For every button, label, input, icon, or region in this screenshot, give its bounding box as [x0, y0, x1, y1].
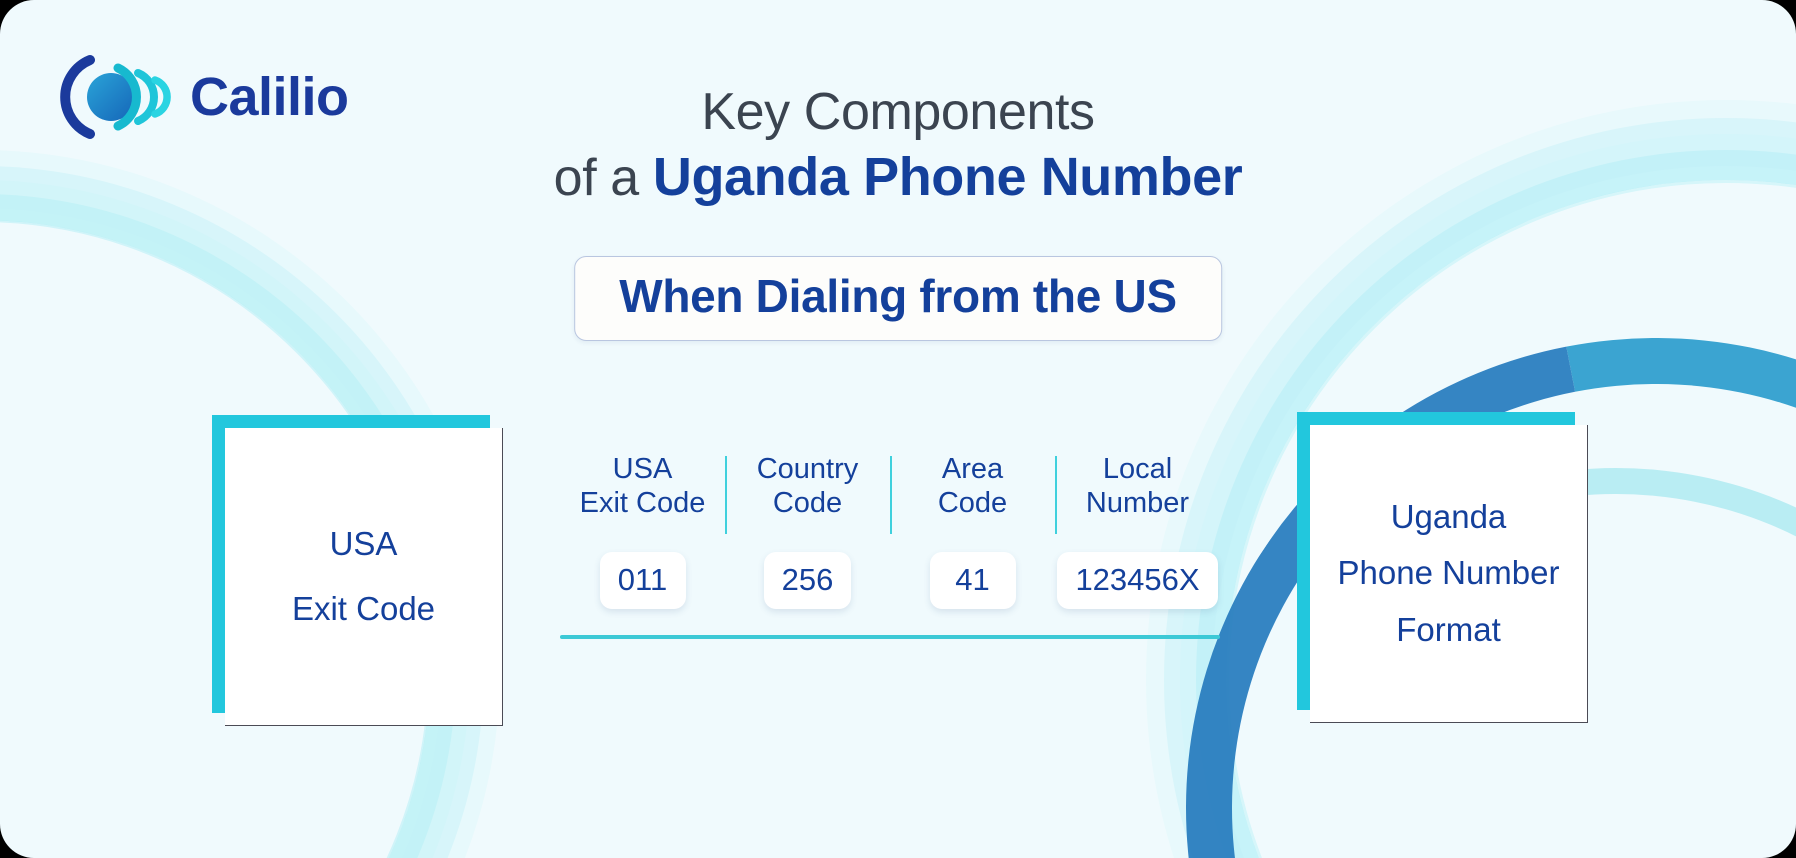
breakdown-value-pill: 256 — [764, 552, 852, 609]
heading-line-2-prefix: of a — [554, 149, 653, 207]
number-breakdown: USA Exit Code 011 Country Code 256 Area … — [560, 452, 1220, 639]
breakdown-column-area-code: Area Code 41 — [890, 452, 1055, 609]
heading-line-2-strong: Uganda Phone Number — [653, 147, 1242, 207]
breakdown-underline — [560, 635, 1220, 639]
breakdown-label-line-2: Exit Code — [580, 487, 706, 519]
breakdown-label-line-1: Country — [757, 453, 859, 485]
subtitle-text: When Dialing from the US — [619, 271, 1177, 322]
breakdown-value-pill: 011 — [600, 552, 686, 609]
breakdown-value-pill: 41 — [930, 552, 1016, 609]
breakdown-label-line-2: Number — [1086, 487, 1189, 519]
breakdown-column-local-number: Local Number 123456X — [1055, 452, 1220, 609]
breakdown-label: Country Code — [749, 452, 867, 520]
breakdown-label: USA Exit Code — [572, 452, 714, 520]
uganda-format-card-accent-border — [1297, 412, 1575, 710]
number-breakdown-columns: USA Exit Code 011 Country Code 256 Area … — [560, 452, 1220, 609]
breakdown-label: Local Number — [1078, 452, 1197, 520]
infographic-canvas: Calilio Key Components of a Uganda Phone… — [0, 0, 1796, 858]
breakdown-label-line-1: Local — [1103, 453, 1172, 485]
breakdown-column-country-code: Country Code 256 — [725, 452, 890, 609]
breakdown-column-usa-exit-code: USA Exit Code 011 — [560, 452, 725, 609]
breakdown-label: Area Code — [930, 452, 1015, 520]
page-heading: Key Components of a Uganda Phone Number — [0, 82, 1796, 213]
breakdown-label-line-1: Area — [942, 453, 1003, 485]
breakdown-label-line-2: Code — [773, 487, 842, 519]
breakdown-label-line-2: Code — [938, 487, 1007, 519]
subtitle-box: When Dialing from the US — [574, 256, 1222, 341]
uganda-format-card: Uganda Phone Number Format — [1297, 412, 1575, 710]
heading-line-2: of a Uganda Phone Number — [0, 142, 1796, 213]
breakdown-label-line-1: USA — [613, 453, 673, 485]
usa-exit-code-card-accent-border — [212, 415, 490, 713]
heading-line-1: Key Components — [0, 82, 1796, 142]
usa-exit-code-card: USA Exit Code — [212, 415, 490, 713]
breakdown-value-pill: 123456X — [1057, 552, 1217, 609]
